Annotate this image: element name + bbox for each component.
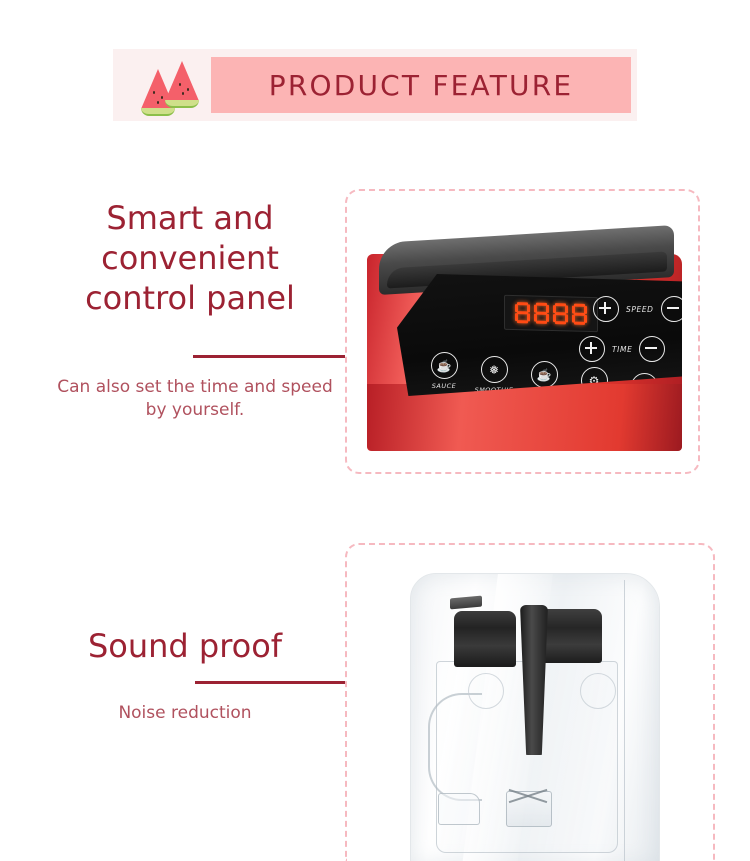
feature-title-control-panel: Smart and convenient control panel [45,198,335,318]
feature-title-sound-proof: Sound proof [40,626,330,666]
led-digit [572,303,587,325]
image-frame-sound-proof [345,543,715,861]
enclosure-ring-right [580,673,616,709]
feature-subtitle-control-panel: Can also set the time and speed by yours… [50,376,340,423]
led-digit [534,302,549,324]
preset-label-sauce: SAUCE [419,382,469,390]
lid-knob [401,270,431,286]
led-digit [553,303,568,325]
image-frame-control-panel: SPEED TIME ☕ SAUCE ❅ SMOOTHIE [345,189,700,474]
product-image-control-panel: SPEED TIME ☕ SAUCE ❅ SMOOTHIE [367,216,682,451]
enclosure-ring-left [468,673,504,709]
speed-control-row: SPEED [593,296,682,322]
connector-line-control-panel [193,355,368,358]
jar-spout [438,793,480,825]
preset-button-sauce[interactable]: ☕ SAUCE [419,352,469,390]
page-header-banner: PRODUCT FEATURE [113,49,637,121]
led-digit [515,302,530,324]
feature-subtitle-sound-proof: Noise reduction [40,702,330,725]
page-title: PRODUCT FEATURE [269,69,574,102]
enclosure-edge [624,580,626,861]
watermelon-slices-icon [135,57,207,113]
product-image-sound-proof [402,565,672,861]
sauce-pot-icon: ☕ [431,352,458,379]
speed-label: SPEED [626,305,654,314]
preset-button-smoothie[interactable]: ❅ SMOOTHIE [469,356,519,394]
jar-handle [428,693,482,801]
snowflake-icon: ❅ [481,356,508,383]
led-display [504,295,598,332]
header-title-band: PRODUCT FEATURE [211,57,631,113]
speed-decrease-button[interactable] [661,296,682,322]
blade-icon [508,787,548,805]
speed-increase-button[interactable] [593,296,619,322]
juice-cup-icon: ☕ [531,361,558,388]
touch-control-face: SPEED TIME ☕ SAUCE ❅ SMOOTHIE [397,274,682,396]
jar-lid-left [454,611,516,667]
